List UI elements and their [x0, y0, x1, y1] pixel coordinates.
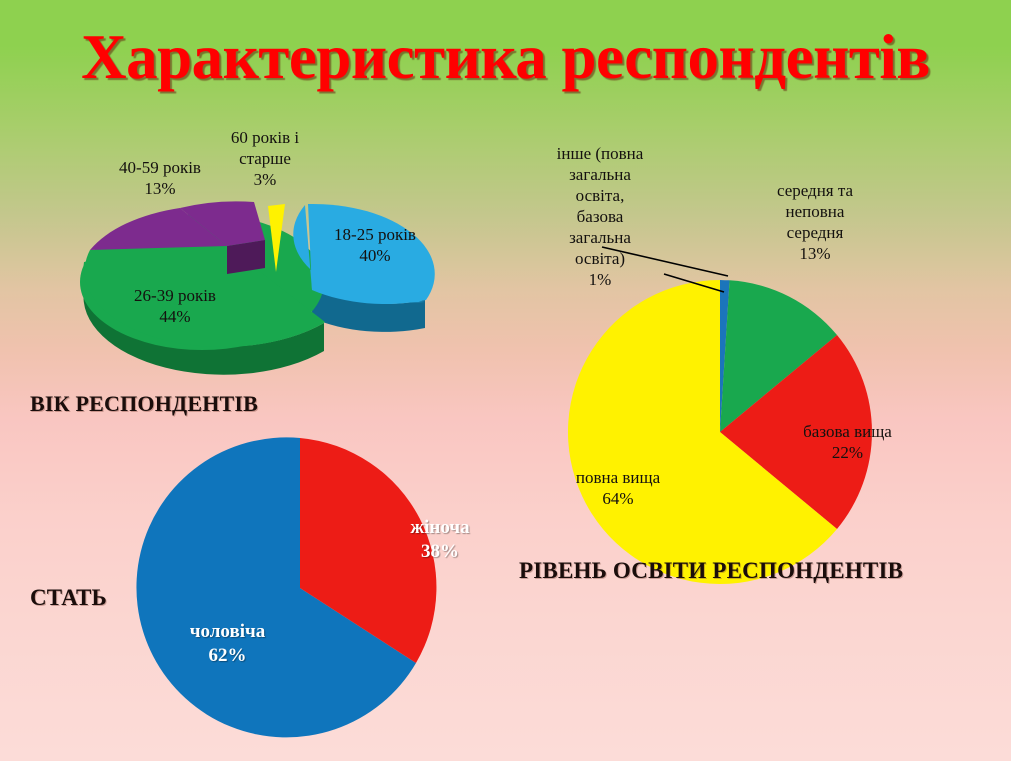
education-label-basic-higher: базова вища 22%: [780, 421, 915, 463]
gender-label-female: жіноча 38%: [380, 516, 500, 564]
education-label-other: інше (повна загальна освіта, базова зага…: [520, 143, 680, 290]
age-label-18-25: 18-25 років 40%: [310, 224, 440, 266]
gender-pie-chart: [130, 418, 470, 758]
age-label-26-39: 26-39 років 44%: [105, 285, 245, 327]
education-label-secondary: середня та неповна середня 13%: [740, 180, 890, 264]
age-label-40-59: 40-59 років 13%: [95, 157, 225, 199]
age-label-60-plus: 60 років і старше 3%: [215, 127, 315, 190]
education-label-full-higher: повна вища 64%: [548, 467, 688, 509]
gender-chart-caption: СТАТЬ: [30, 585, 107, 611]
age-chart-caption: ВІК РЕСПОНДЕНТІВ: [30, 391, 258, 417]
page-title: Характеристика респондентів: [0, 22, 1011, 92]
slide-canvas: Характеристика респондентів: [0, 0, 1011, 761]
education-chart-caption: РІВЕНЬ ОСВІТИ РЕСПОНДЕНТІВ: [519, 558, 903, 584]
age-slice-purple-wall: [227, 240, 265, 274]
gender-label-male: чоловіча 62%: [160, 620, 295, 668]
